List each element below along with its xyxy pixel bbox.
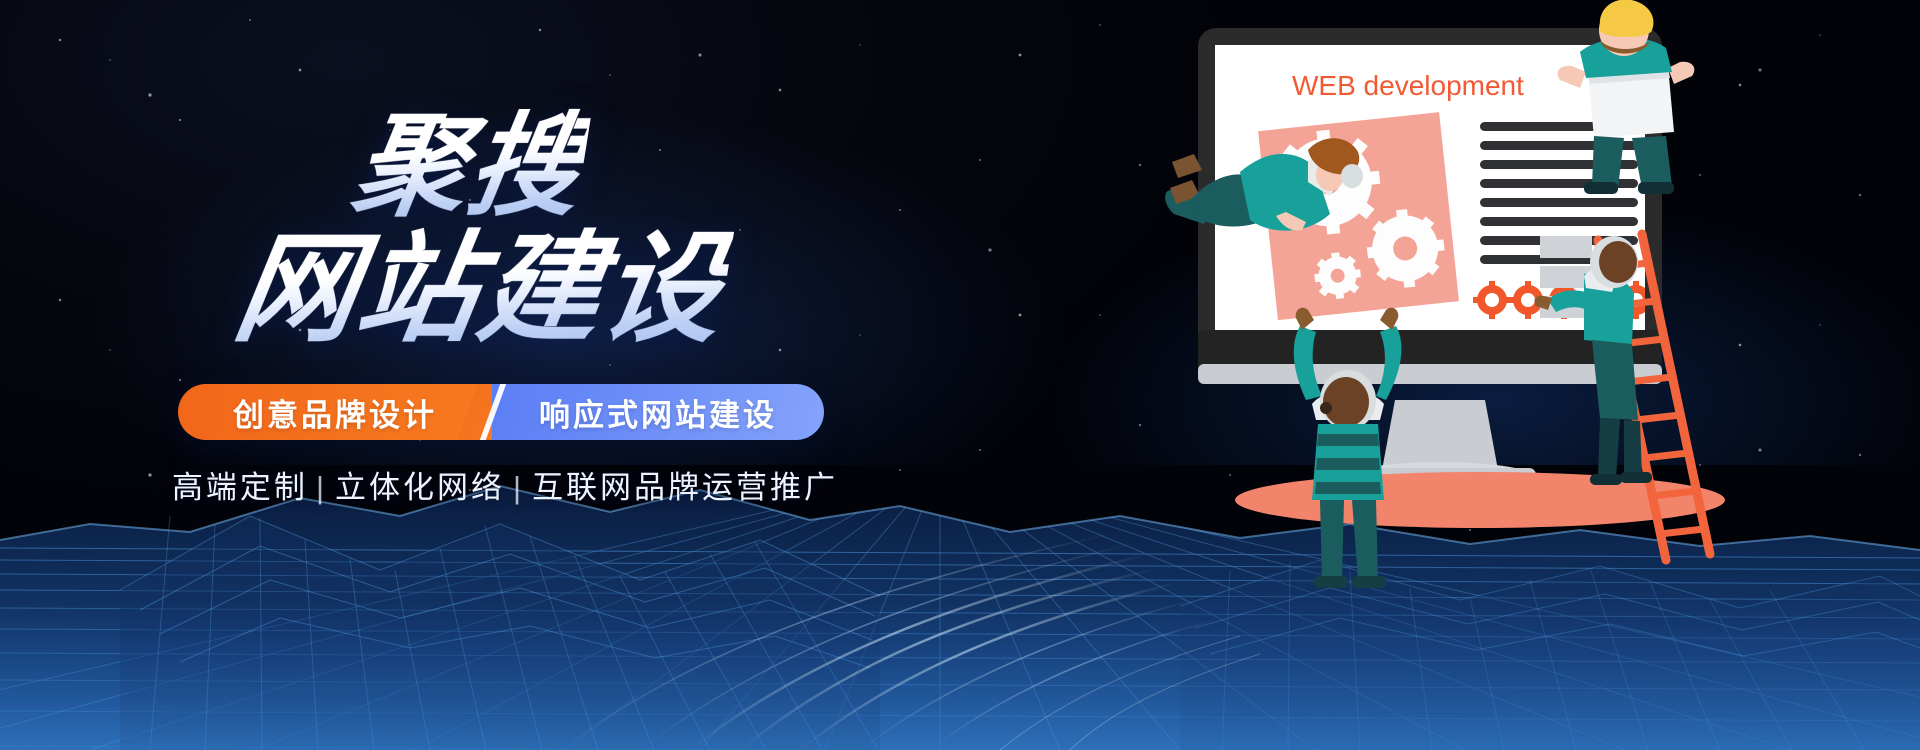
service-badge: 创意品牌设计 响应式网站建设	[178, 384, 824, 440]
badge-left-label: 创意品牌设计	[233, 390, 437, 435]
subtitle-separator-1: |	[316, 470, 327, 505]
hero-text-content: 聚搜 网站建设 创意品牌设计 响应式网站建设 高端定制|立体化网络|互联网品牌运…	[0, 0, 880, 750]
subtitle-item-3: 互联网品牌运营推广	[532, 470, 838, 505]
badge-segment-responsive[interactable]: 响应式网站建设	[492, 384, 824, 440]
hero-banner: 聚搜 网站建设 创意品牌设计 响应式网站建设 高端定制|立体化网络|互联网品牌运…	[0, 0, 1920, 750]
badge-right-label: 响应式网站建设	[539, 390, 777, 435]
badge-segment-creative[interactable]: 创意品牌设计	[178, 384, 492, 440]
subtitle-line: 高端定制|立体化网络|互联网品牌运营推广	[160, 462, 850, 507]
page-title-line-1: 聚搜	[346, 108, 593, 226]
subtitle-item-1: 高端定制	[172, 470, 308, 505]
subtitle-item-2: 立体化网络	[335, 470, 505, 505]
subtitle-separator-2: |	[513, 470, 524, 505]
web-development-illustration: WEB development	[1180, 0, 1920, 750]
screen-heading: WEB development	[1292, 70, 1524, 101]
page-title-line-2: 网站建设	[227, 226, 735, 352]
